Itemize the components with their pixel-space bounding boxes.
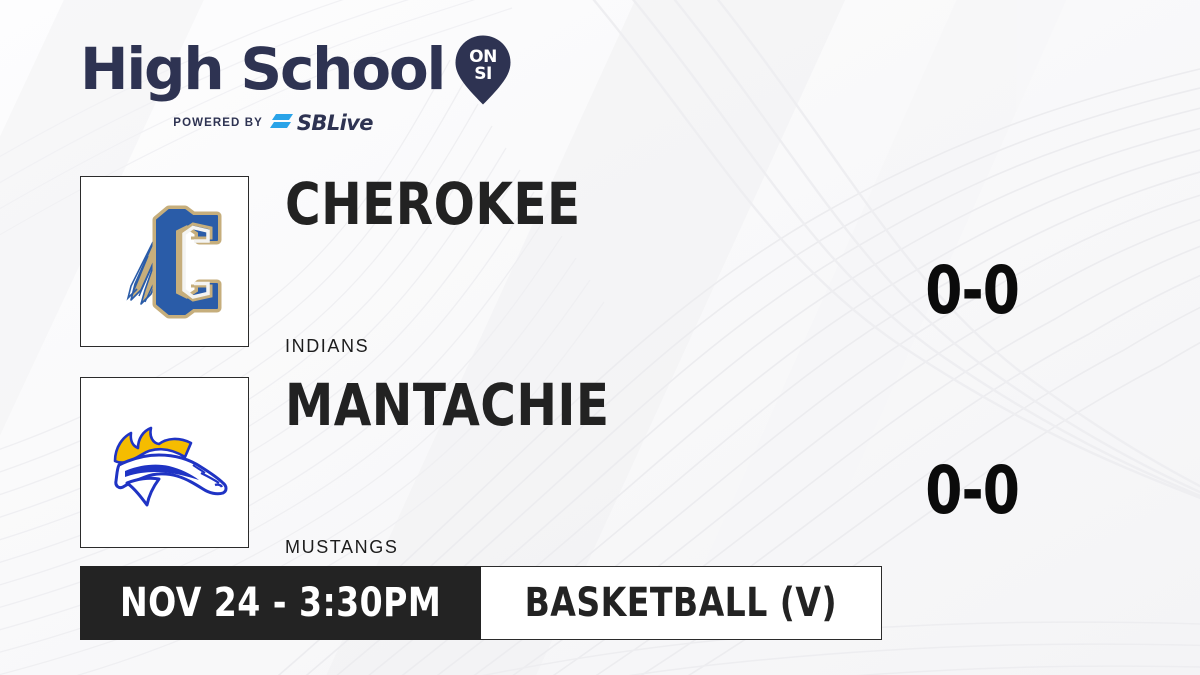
- team-name-mantachie: MANTACHIE: [285, 376, 610, 434]
- match-datetime-chip: NOV 24 - 3:30PM: [80, 566, 481, 640]
- sblive-s-icon: [270, 113, 294, 133]
- sblive-logo: SBLive: [270, 111, 373, 135]
- team-mascot-mantachie: MUSTANGS: [285, 537, 398, 558]
- svg-text:SI: SI: [474, 64, 492, 84]
- mustang-head-logo-icon: [97, 413, 233, 513]
- match-sport-text: BASKETBALL (V): [525, 580, 837, 626]
- team-name-cherokee: CHEROKEE: [285, 175, 581, 233]
- brand-lockup: High School ON SI POWERED BY SBLive: [80, 34, 512, 135]
- team-record-cherokee: 0-0: [925, 258, 1019, 324]
- match-datetime-text: NOV 24 - 3:30PM: [120, 580, 441, 626]
- on-si-pin-icon: ON SI: [454, 34, 512, 106]
- powered-by-label: POWERED BY: [173, 117, 263, 129]
- sblive-wordmark: SBLive: [297, 111, 373, 135]
- powered-by-row: POWERED BY SBLive: [80, 111, 512, 135]
- cherokee-c-logo-icon: [101, 198, 229, 326]
- match-info-bar: NOV 24 - 3:30PM BASKETBALL (V): [80, 566, 882, 640]
- team-record-mantachie: 0-0: [925, 458, 1019, 524]
- high-school-wordmark: High School: [80, 42, 444, 97]
- team-mascot-cherokee: INDIANS: [285, 336, 369, 357]
- brand-row: High School ON SI: [80, 34, 512, 106]
- team-logo-box-cherokee: [80, 176, 249, 347]
- team-logo-box-mantachie: [80, 377, 249, 548]
- match-sport-chip: BASKETBALL (V): [481, 566, 882, 640]
